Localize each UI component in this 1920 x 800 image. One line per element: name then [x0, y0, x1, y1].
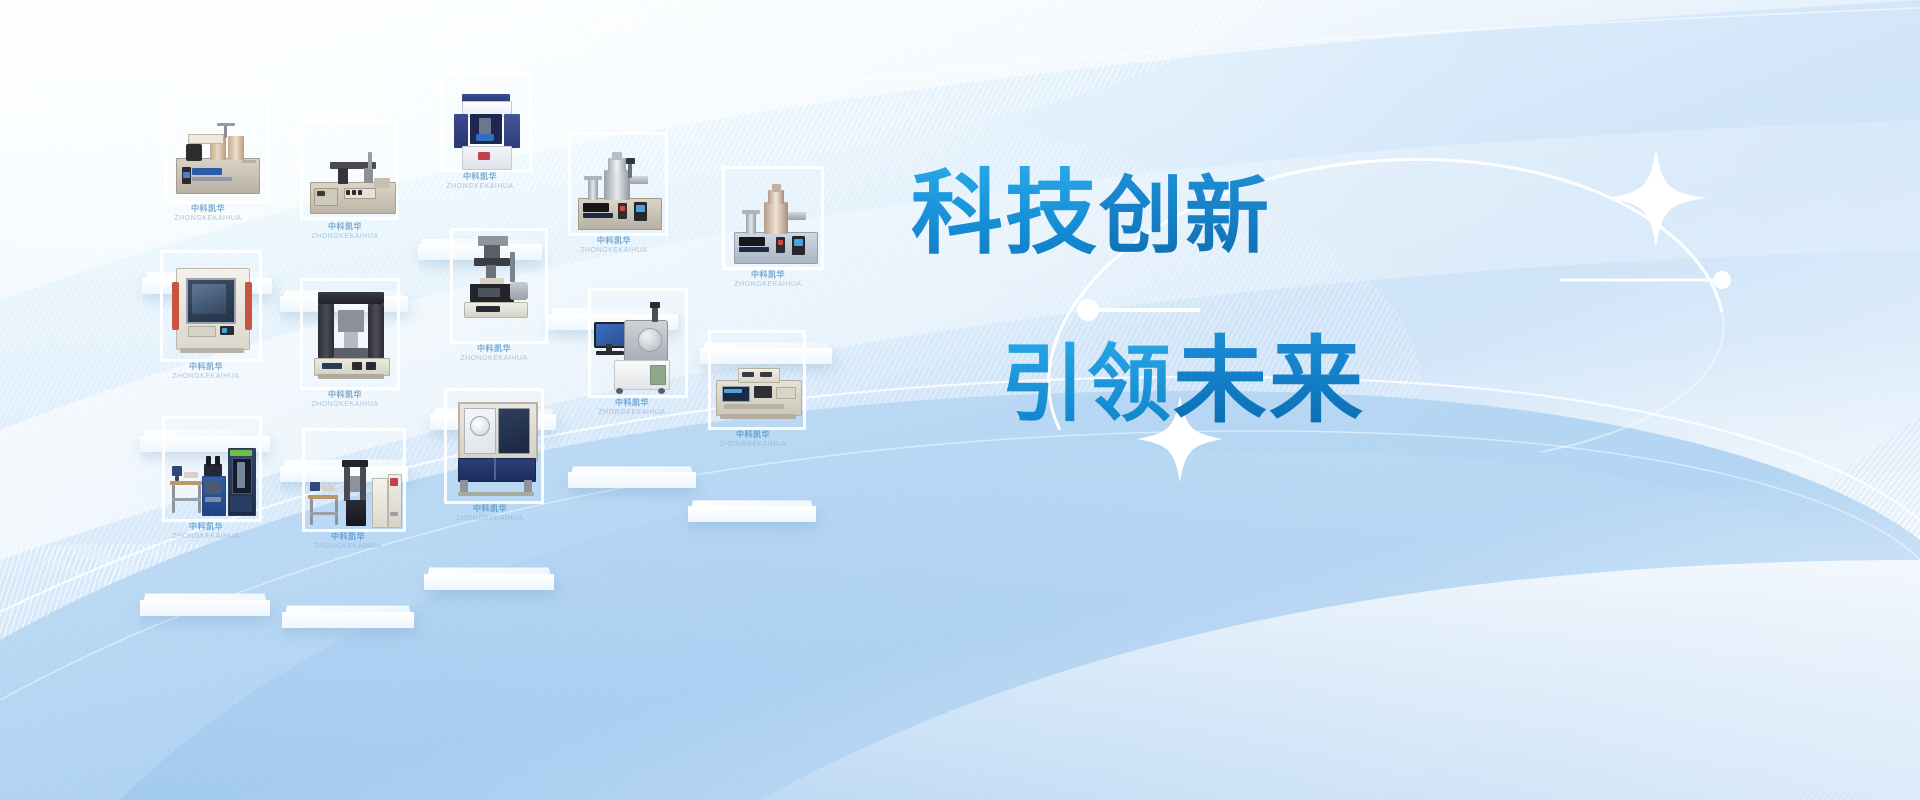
product-lab-workstation-rack[interactable]: 中科凯华ZHONGKEKAIHUA: [140, 416, 272, 626]
product-cluster: 中科凯华ZHONGKEKAIHUA: [0, 0, 900, 800]
product-watermark: 中科凯华ZHONGKEKAIHUA: [174, 204, 241, 224]
headline-block: 科技创新 引领未来: [905, 168, 1465, 428]
product-watermark: 中科凯华ZHONGKEKAIHUA: [311, 222, 378, 242]
sparkle-icon-upper: [1606, 148, 1706, 248]
product-watermark: 中科凯华ZHONGKEKAIHUA: [580, 236, 647, 256]
headline-line-1: 科技创新: [911, 168, 1465, 260]
product-image: [172, 436, 256, 522]
product-image: [454, 400, 540, 496]
product-watermark: 中科凯华ZHONGKEKAIHUA: [446, 172, 513, 192]
product-monitor-cabinet-system[interactable]: 中科凯华ZHONGKEKAIHUA: [568, 288, 696, 496]
product-image: [578, 146, 660, 232]
headline-line2-part1: 引领: [1001, 337, 1173, 431]
product-watermark: 中科凯华ZHONGKEKAIHUA: [456, 504, 523, 524]
product-watermark: 中科凯华ZHONGKEKAIHUA: [172, 522, 239, 542]
product-watermark: 中科凯华ZHONGKEKAIHUA: [734, 270, 801, 290]
hero-banner: 科技创新 引领未来: [0, 0, 1920, 800]
product-watermark: 中科凯华ZHONGKEKAIHUA: [311, 390, 378, 410]
product-plinth: [688, 472, 816, 522]
product-image: [460, 236, 540, 336]
product-watermark: 中科凯华ZHONGKEKAIHUA: [314, 532, 381, 552]
product-plinth: [140, 564, 270, 616]
product-plinth: [282, 576, 414, 628]
headline-line2-part2: 未来: [1173, 328, 1365, 433]
product-image: [454, 90, 520, 170]
product-watermark: 中科凯华ZHONGKEKAIHUA: [460, 344, 527, 364]
product-image: [716, 354, 800, 428]
product-plinth: [424, 538, 554, 590]
product-image: [594, 302, 682, 396]
headline-line1-part2: 创新: [1099, 169, 1271, 263]
product-image: [310, 142, 394, 216]
product-watermark: 中科凯华ZHONGKEKAIHUA: [172, 362, 239, 382]
product-image: [310, 454, 400, 534]
product-glove-box-enclosure[interactable]: 中科凯华ZHONGKEKAIHUA: [424, 388, 556, 600]
product-image: [176, 120, 258, 198]
headline-line-2: 引领未来: [1001, 334, 1465, 428]
headline-line1-part1: 科技: [911, 163, 1099, 265]
product-watermark: 中科凯华ZHONGKEKAIHUA: [719, 430, 786, 450]
product-benchtop-control-console[interactable]: 中科凯华ZHONGKEKAIHUA: [688, 330, 818, 530]
product-image: [734, 180, 816, 266]
product-image: [312, 290, 390, 386]
product-universal-testing-machine[interactable]: 中科凯华ZHONGKEKAIHUA: [282, 428, 414, 638]
product-image: [172, 264, 252, 356]
orbit-node-right: [1713, 271, 1731, 289]
product-plinth: [568, 438, 696, 488]
product-watermark: 中科凯华ZHONGKEKAIHUA: [598, 398, 665, 418]
